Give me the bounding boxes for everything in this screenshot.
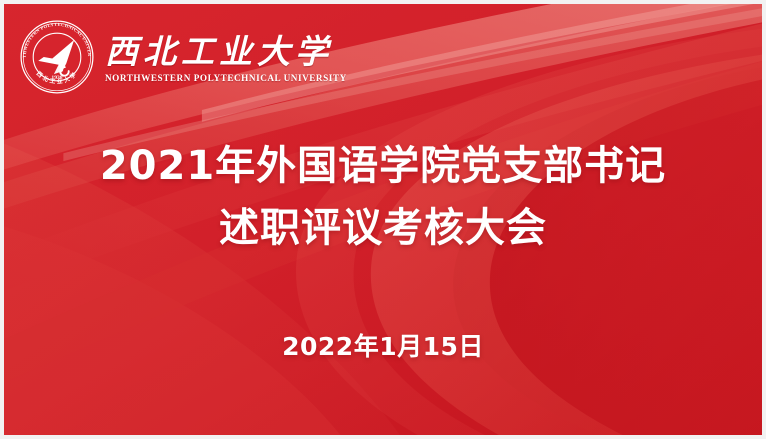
slide-title-block: 2021年外国语学院党支部书记 述职评议考核大会 [4, 135, 762, 259]
slide-date: 2022年1月15日 [4, 329, 762, 365]
university-wordmark: 西北工业大学 NORTHWESTERN POLYTECHNICAL UNIVER… [105, 31, 347, 83]
wordmark-chinese: 西北工业大学 [105, 35, 347, 70]
wordmark-english: NORTHWESTERN POLYTECHNICAL UNIVERSITY [105, 73, 347, 83]
university-logo-lockup: NORTHWESTERN POLYTECHNICAL UNIVERSITY 19… [18, 18, 347, 96]
slide-title-line-2: 述职评议考核大会 [4, 197, 762, 259]
npu-seal-emblem: NORTHWESTERN POLYTECHNICAL UNIVERSITY 19… [18, 18, 96, 96]
slide-title-line-1: 2021年外国语学院党支部书记 [4, 135, 762, 197]
presentation-slide: NORTHWESTERN POLYTECHNICAL UNIVERSITY 19… [0, 0, 766, 439]
